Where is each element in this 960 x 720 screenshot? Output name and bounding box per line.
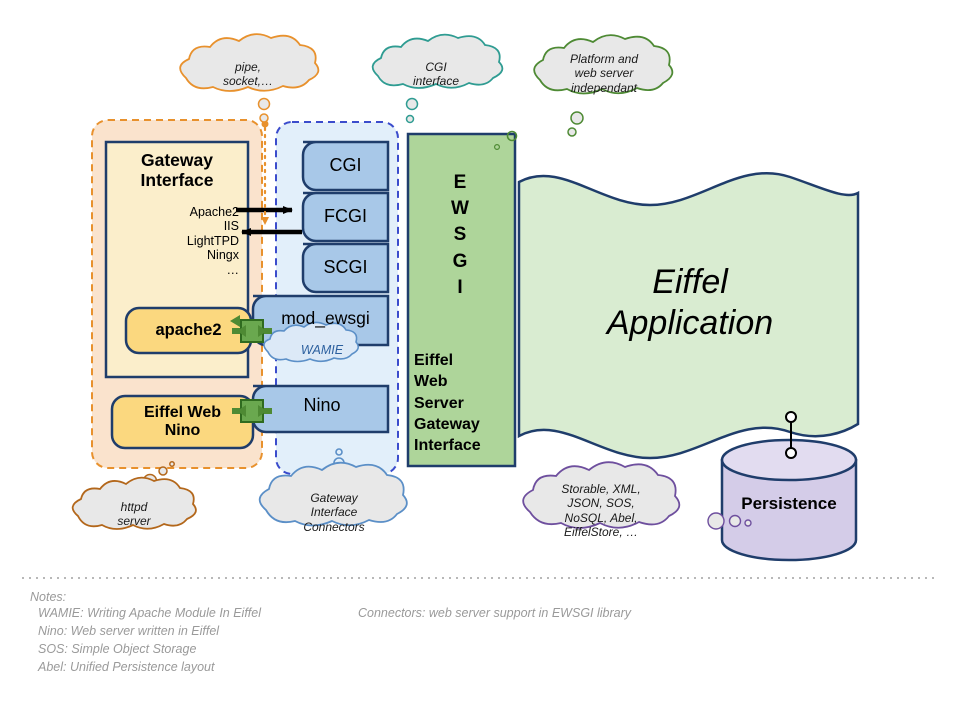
cloud-httpd-server-label: httpd server [78,500,190,529]
cloud-gateway-connectors-label: Gateway Interface Connectors [266,491,402,534]
pipe-socket-cloud-tail [259,99,270,123]
eiffel-web-nino-label: Eiffel Web Nino [112,404,253,441]
connector-label-fcgi: FCGI [303,206,388,227]
connector-label-mod-ewsgi: mod_ewsgi [263,308,388,328]
cloud-cgi-interface-label: CGI interface [378,60,494,89]
gateway-interface-title: Gateway Interface [108,150,246,190]
connector-label-scgi: SCGI [303,257,388,278]
gateway-interface-server-list: Apache2 IIS LightTPD Ningx … [108,205,239,277]
connector-label-nino: Nino [256,395,388,416]
eiffel-application-label: Eiffel Application [560,262,820,344]
persistence-label: Persistence [722,494,856,514]
notes-right-lines: Connectors: web server support in EWSGI … [358,604,631,622]
cloud-persistence-formats-label: Storable, XML, JSON, SOS, NoSQL, Abel, E… [530,482,672,540]
cloud-pipe-socket-label: pipe, socket,… [186,60,310,89]
ewsgi-expansion: Eiffel Web Server Gateway Interface [414,350,514,456]
cloud-platform-independant-label: Platform and web server independant [540,52,668,95]
cgi-interface-cloud-tail [407,99,418,123]
notes-left-lines: WAMIE: Writing Apache Module In Eiffel N… [38,604,261,677]
platform-cloud-tail [568,112,583,136]
connector-label-cgi: CGI [303,155,388,176]
ewsgi-acronym: E W S G I [430,170,490,301]
apache2-label: apache2 [126,321,251,340]
wamie-cloud-label: WAMIE [268,343,376,357]
diagram-canvas: pipe, socket,… CGI interface Platform an… [0,0,960,720]
